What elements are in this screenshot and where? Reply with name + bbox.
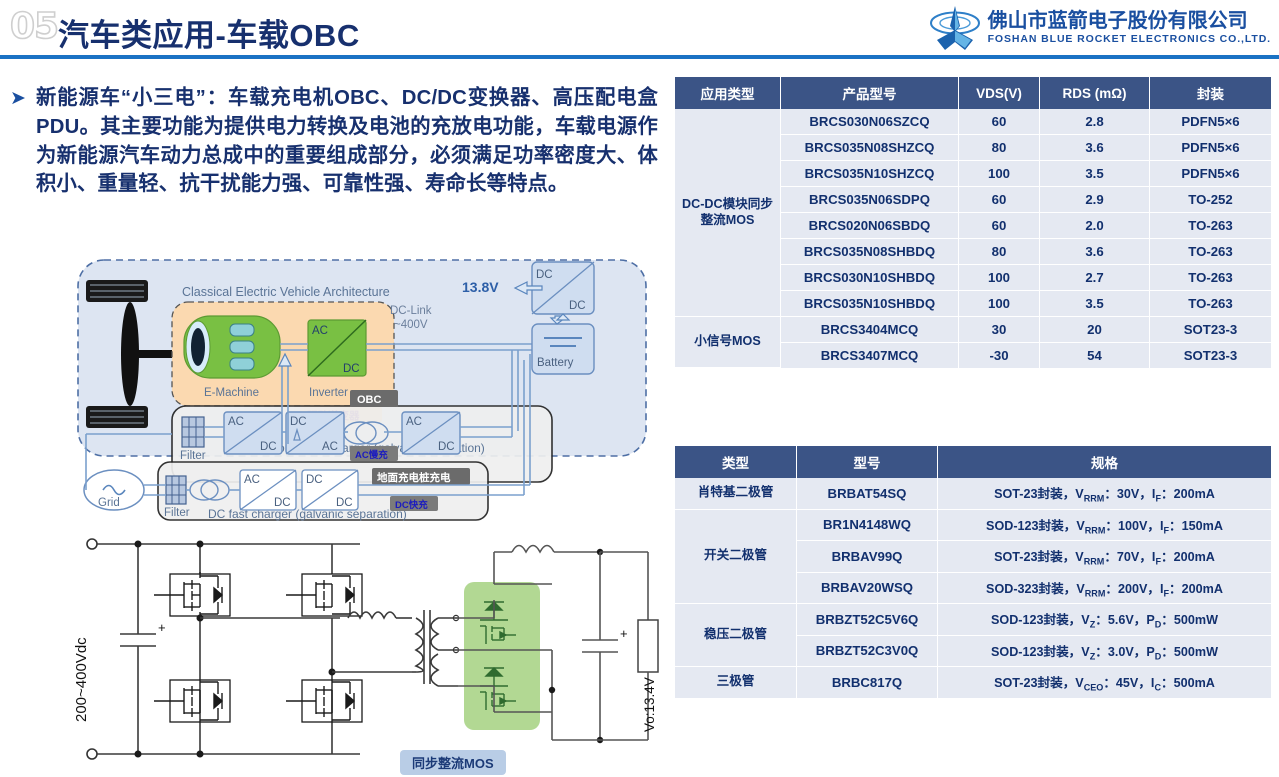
th-vds: VDS(V): [959, 77, 1040, 109]
cell-package: TO-263: [1150, 265, 1271, 291]
cell-rds: 3.6: [1040, 135, 1150, 161]
svg-text:DC: DC: [260, 441, 277, 453]
cell-rds: 2.7: [1040, 265, 1150, 291]
cell-vds: 100: [959, 291, 1040, 317]
cell-type: 稳压二极管: [675, 604, 797, 667]
cell-package: SOT23-3: [1150, 317, 1271, 343]
cell-rds: 3.5: [1040, 161, 1150, 187]
title-divider: [0, 55, 1279, 59]
cell-vds: 60: [959, 187, 1040, 213]
svg-text:AC: AC: [244, 474, 260, 486]
cell-vds: 80: [959, 135, 1040, 161]
logo-company-en: FOSHAN BLUE ROCKET ELECTRONICS CO.,LTD.: [988, 34, 1271, 45]
cell-vds: 80: [959, 239, 1040, 265]
cell-model: BRCS035N10SHBDQ: [781, 291, 959, 317]
svg-text:AC: AC: [228, 416, 244, 428]
cell-package: TO-263: [1150, 239, 1271, 265]
svg-text:DC: DC: [290, 416, 307, 428]
th-product-model: 产品型号: [781, 77, 959, 109]
table-row: DC-DC模块同步整流MOSBRCS030N06SZCQ602.8PDFN5×6: [675, 109, 1271, 135]
cell-category: DC-DC模块同步整流MOS: [675, 109, 781, 317]
cell-type: 三极管: [675, 667, 797, 698]
sync-rect-highlight: [464, 582, 540, 730]
cell-model: BRCS030N06SZCQ: [781, 109, 959, 135]
th-rds: RDS (mΩ): [1040, 77, 1150, 109]
bullet-paragraph: ➤ 新能源车“小三电”：车载充电机OBC、DC/DC变换器、高压配电盒PDU。其…: [10, 84, 658, 199]
output-voltage-label: Vo:13.4V: [642, 677, 657, 732]
svg-text:DC: DC: [438, 441, 455, 453]
obc-circuit-schematic: .w{stroke:#3a3a3a;stroke-width:1.6;fill:…: [60, 522, 660, 777]
cell-spec: SOD-123封装，VZ：3.0V，PD：500mW: [938, 636, 1271, 668]
table-header-row: 应用类型 产品型号 VDS(V) RDS (mΩ) 封装: [675, 77, 1271, 109]
th-type: 类型: [675, 446, 797, 478]
cell-package: TO-252: [1150, 187, 1271, 213]
svg-text:DC: DC: [274, 497, 291, 509]
th-model: 型号: [797, 446, 938, 478]
table-row: 肖特基二极管BRBAT54SQSOT-23封装，VRRM：30V，IF：200m…: [675, 478, 1271, 510]
cell-model: BRCS030N10SHBDQ: [781, 265, 959, 291]
cell-model: BR1N4148WQ: [797, 510, 938, 542]
cell-model: BRCS035N06SDPQ: [781, 187, 959, 213]
table-row: 稳压二极管BRBZT52C5V6QSOD-123封装，VZ：5.6V，PD：50…: [675, 604, 1271, 636]
cell-spec: SOD-323封装，VRRM：200V，IF：200mA: [938, 573, 1271, 605]
cell-vds: -30: [959, 343, 1040, 368]
th-spec: 规格: [938, 446, 1271, 478]
cell-package: PDFN5×6: [1150, 109, 1271, 135]
dcdc-bottom-label: DC: [569, 300, 586, 312]
inverter-dc-label: DC: [343, 363, 360, 375]
cell-rds: 3.5: [1040, 291, 1150, 317]
cell-model: BRBZT52C3V0Q: [797, 636, 938, 668]
cell-package: TO-263: [1150, 291, 1271, 317]
ground-pile-tag: 地面充电桩充电: [377, 471, 451, 484]
table-row: 小信号MOSBRCS3404MCQ3020SOT23-3: [675, 317, 1271, 343]
grid-label: Grid: [98, 497, 120, 509]
cell-rds: 2.9: [1040, 187, 1150, 213]
battery-label: Battery: [537, 357, 574, 369]
dcdc-top-label: DC: [536, 269, 553, 281]
dclink-value: ~400V: [394, 319, 428, 331]
cell-spec: SOD-123封装，VZ：5.6V，PD：500mW: [938, 604, 1271, 636]
cell-rds: 3.6: [1040, 239, 1150, 265]
cell-package: PDFN5×6: [1150, 161, 1271, 187]
cell-model: BRBAV20WSQ: [797, 573, 938, 605]
inverter-label: Inverter: [309, 387, 348, 399]
svg-text:+: +: [620, 626, 628, 641]
cell-vds: 60: [959, 213, 1040, 239]
emachine-label: E-Machine: [204, 387, 259, 399]
company-logo: 佛山市蓝箭电子股份有限公司 FOSHAN BLUE ROCKET ELECTRO…: [929, 5, 1271, 51]
cell-rds: 2.8: [1040, 109, 1150, 135]
cell-category: 小信号MOS: [675, 317, 781, 368]
ac-slow-charge-tag: AC慢充: [355, 449, 388, 461]
cell-spec: SOT-23封装，VRRM：70V，IF：200mA: [938, 541, 1271, 573]
sync-rect-mos-caption: 同步整流MOS: [400, 750, 506, 775]
cell-model: BRCS3404MCQ: [781, 317, 959, 343]
lv-output-label: 13.8V: [462, 279, 499, 295]
svg-text:DC: DC: [306, 474, 323, 486]
cell-model: BRCS035N10SHZCQ: [781, 161, 959, 187]
page-title: 汽车类应用-车载OBC: [58, 10, 360, 55]
ev-architecture-diagram: .dsh{fill:#dde5f2;stroke:#4e6fa5;stroke-…: [72, 254, 652, 524]
left-content-column: ➤ 新能源车“小三电”：车载充电机OBC、DC/DC变换器、高压配电盒PDU。其…: [0, 62, 664, 717]
cell-model: BRCS020N06SBDQ: [781, 213, 959, 239]
filter-label-2: Filter: [164, 507, 190, 519]
slide-number: 05: [10, 6, 58, 47]
table-header-row: 类型 型号 规格: [675, 446, 1271, 478]
dclink-label: DC-Link: [390, 305, 432, 317]
cell-type: 开关二极管: [675, 510, 797, 605]
cell-model: BRBAT54SQ: [797, 478, 938, 510]
slide-header: 05 汽车类应用-车载OBC 佛山市蓝箭电子股份有限公司 FOSHAN BLUE…: [0, 0, 1279, 58]
th-application-type: 应用类型: [675, 77, 781, 109]
mos-products-table: 应用类型 产品型号 VDS(V) RDS (mΩ) 封装 DC-DC模块同步整流…: [675, 77, 1271, 368]
cell-type: 肖特基二极管: [675, 478, 797, 510]
logo-text-block: 佛山市蓝箭电子股份有限公司 FOSHAN BLUE ROCKET ELECTRO…: [988, 11, 1271, 45]
input-voltage-label: 200~400Vdc: [73, 637, 90, 722]
architecture-label: Classical Electric Vehicle Architecture: [182, 285, 390, 299]
cell-rds: 20: [1040, 317, 1150, 343]
inverter-ac-label: AC: [312, 325, 328, 337]
logo-company-cn: 佛山市蓝箭电子股份有限公司: [988, 11, 1271, 31]
cell-model: BRCS3407MCQ: [781, 343, 959, 368]
filter-label-1: Filter: [180, 450, 206, 462]
cell-spec: SOD-123封装，VRRM：100V，IF：150mA: [938, 510, 1271, 542]
obc-tag: OBC: [357, 394, 382, 406]
table-row: 三极管BRBC817QSOT-23封装，VCEO：45V，IC：500mA: [675, 667, 1271, 698]
cell-package: TO-263: [1150, 213, 1271, 239]
cell-model: BRBAV99Q: [797, 541, 938, 573]
cell-spec: SOT-23封装，VCEO：45V，IC：500mA: [938, 667, 1271, 698]
svg-text:+: +: [158, 620, 166, 635]
bullet-arrow-icon: ➤: [10, 84, 36, 199]
bullet-text: 新能源车“小三电”：车载充电机OBC、DC/DC变换器、高压配电盒PDU。其主要…: [36, 84, 658, 199]
cell-model: BRCS035N08SHZCQ: [781, 135, 959, 161]
svg-text:AC: AC: [322, 441, 338, 453]
cell-model: BRBC817Q: [797, 667, 938, 698]
cell-rds: 2.0: [1040, 213, 1150, 239]
dc-fast-charge-tag: DC快充: [395, 499, 428, 511]
cell-package: PDFN5×6: [1150, 135, 1271, 161]
cell-vds: 100: [959, 161, 1040, 187]
diode-products-table: 类型 型号 规格 肖特基二极管BRBAT54SQSOT-23封装，VRRM：30…: [675, 446, 1271, 698]
cell-vds: 100: [959, 265, 1040, 291]
cell-package: SOT23-3: [1150, 343, 1271, 368]
rocket-logo-icon: [929, 6, 981, 50]
cell-spec: SOT-23封装，VRRM：30V，IF：200mA: [938, 478, 1271, 510]
cell-model: BRBZT52C5V6Q: [797, 604, 938, 636]
cell-model: BRCS035N08SHBDQ: [781, 239, 959, 265]
svg-text:AC: AC: [406, 416, 422, 428]
cell-rds: 54: [1040, 343, 1150, 368]
cell-vds: 60: [959, 109, 1040, 135]
th-package: 封装: [1150, 77, 1271, 109]
cell-vds: 30: [959, 317, 1040, 343]
table-row: 开关二极管BR1N4148WQSOD-123封装，VRRM：100V，IF：15…: [675, 510, 1271, 542]
svg-text:DC: DC: [336, 497, 353, 509]
